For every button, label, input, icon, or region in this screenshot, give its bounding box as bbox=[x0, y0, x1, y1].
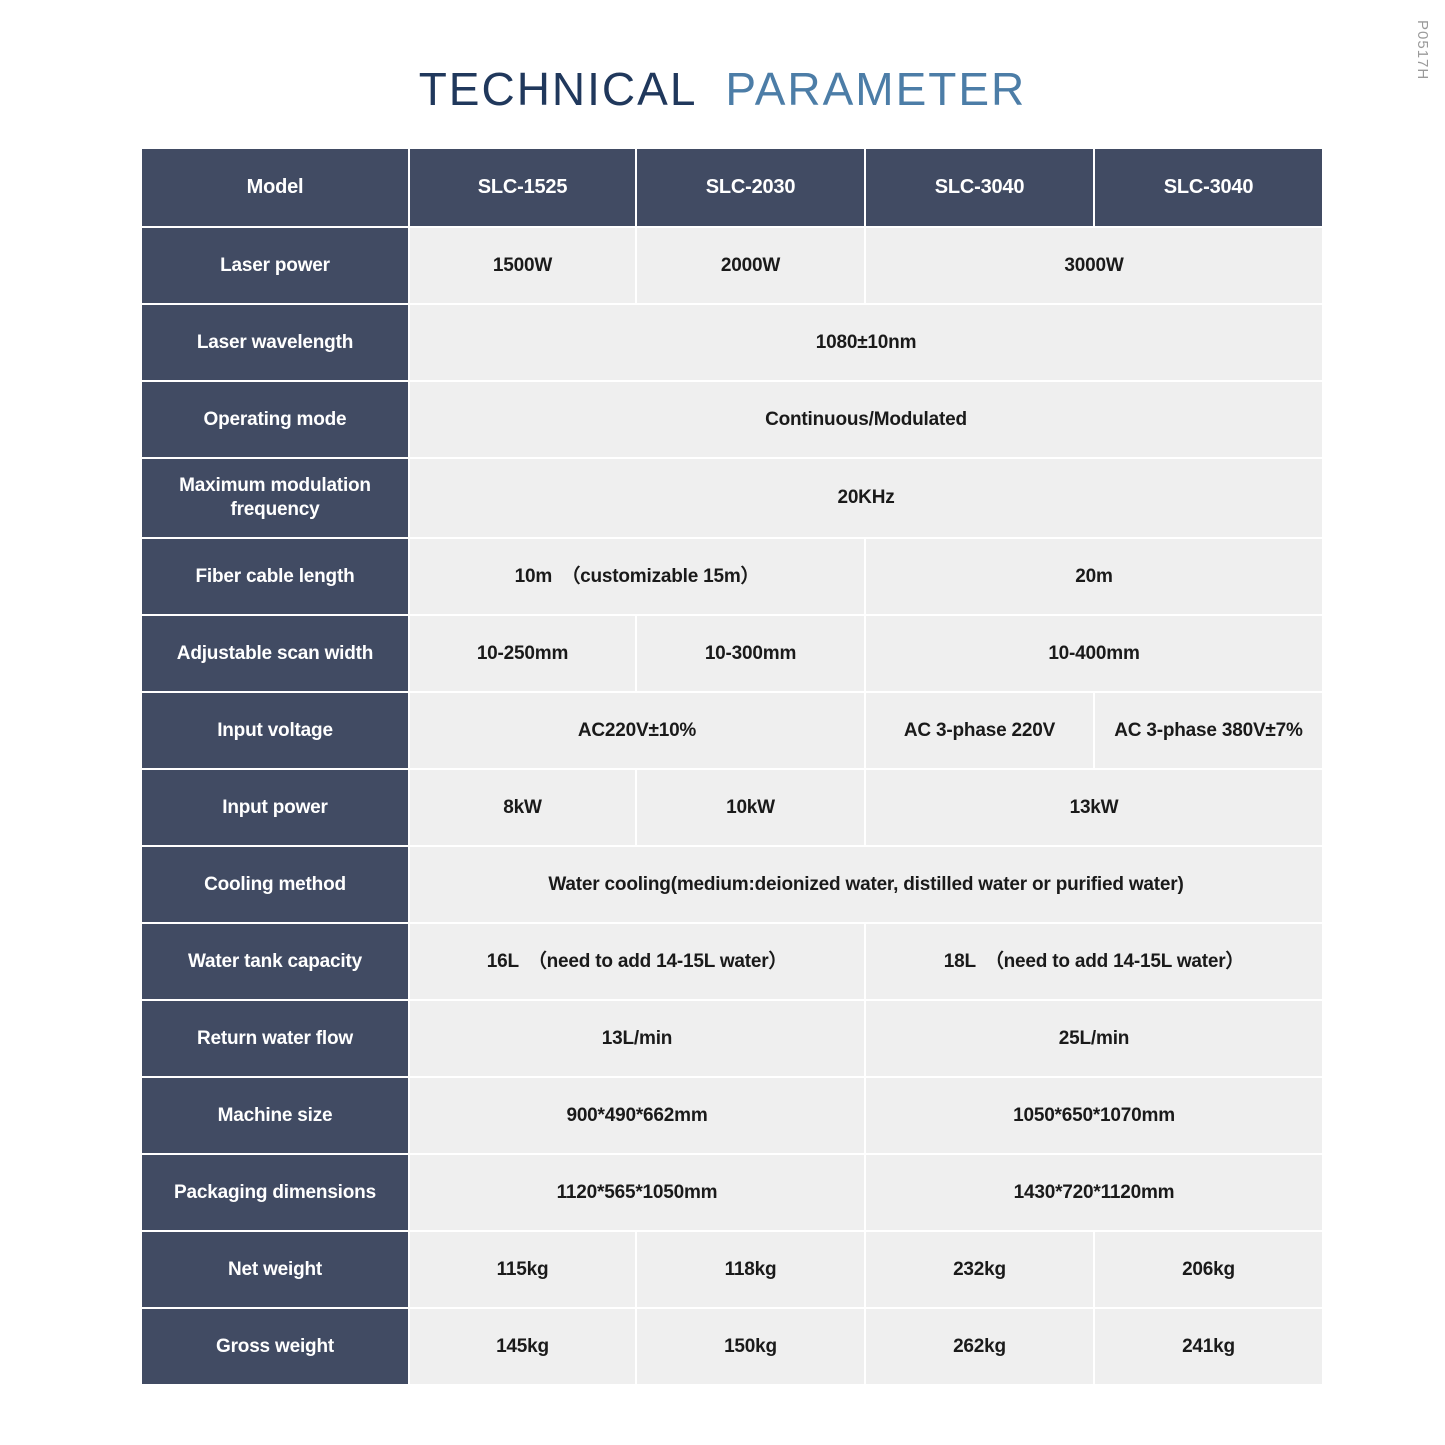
table-row: Gross weight145kg150kg262kg241kg bbox=[142, 1309, 1322, 1384]
table-row: Water tank capacity16L （need to add 14-1… bbox=[142, 924, 1322, 999]
table-row: Laser power1500W2000W3000W bbox=[142, 228, 1322, 303]
table-header-row: ModelSLC-1525SLC-2030SLC-3040SLC-3040 bbox=[142, 149, 1322, 226]
row-value-cell: 115kg bbox=[410, 1232, 635, 1307]
page-title-word-parameter: Parameter bbox=[725, 44, 1026, 120]
table-row: Cooling methodWater cooling(medium:deion… bbox=[142, 847, 1322, 922]
row-value-cell: 232kg bbox=[866, 1232, 1093, 1307]
row-value-cell: 118kg bbox=[637, 1232, 864, 1307]
row-label: Input power bbox=[142, 770, 408, 845]
page-title: TechnicalParameter bbox=[0, 44, 1445, 120]
table-row: Fiber cable length10m （customizable 15m）… bbox=[142, 539, 1322, 614]
table-header-model-3: SLC-3040 bbox=[866, 149, 1093, 226]
table-header-model-1: SLC-1525 bbox=[410, 149, 635, 226]
row-value-cell: 10kW bbox=[637, 770, 864, 845]
table-row: Return water flow13L/min25L/min bbox=[142, 1001, 1322, 1076]
row-value-cell: 206kg bbox=[1095, 1232, 1322, 1307]
row-value-cell: 10-300mm bbox=[637, 616, 864, 691]
table-row: Operating modeContinuous/Modulated bbox=[142, 382, 1322, 457]
row-value-cell: 10-250mm bbox=[410, 616, 635, 691]
row-value-cell: 2000W bbox=[637, 228, 864, 303]
row-label: Laser wavelength bbox=[142, 305, 408, 380]
specification-table-wrapper: ModelSLC-1525SLC-2030SLC-3040SLC-3040Las… bbox=[140, 147, 1314, 1386]
table-header-label-model: Model bbox=[142, 149, 408, 226]
row-value-cell: 1050*650*1070mm bbox=[866, 1078, 1322, 1153]
page-title-word-technical: Technical bbox=[419, 44, 698, 120]
row-value-cell: Water cooling(medium:deionized water, di… bbox=[410, 847, 1322, 922]
table-row: Maximum modulation frequency20KHz bbox=[142, 459, 1322, 537]
row-label: Net weight bbox=[142, 1232, 408, 1307]
table-row: Net weight115kg118kg232kg206kg bbox=[142, 1232, 1322, 1307]
row-value-cell: AC 3-phase 220V bbox=[866, 693, 1093, 768]
row-label: Gross weight bbox=[142, 1309, 408, 1384]
row-value-cell: Continuous/Modulated bbox=[410, 382, 1322, 457]
row-label: Input voltage bbox=[142, 693, 408, 768]
specification-table-body: ModelSLC-1525SLC-2030SLC-3040SLC-3040Las… bbox=[142, 149, 1322, 1384]
table-row: Adjustable scan width10-250mm10-300mm10-… bbox=[142, 616, 1322, 691]
row-value-cell: 8kW bbox=[410, 770, 635, 845]
row-value-cell: 1430*720*1120mm bbox=[866, 1155, 1322, 1230]
row-value-cell: 16L （need to add 14-15L water） bbox=[410, 924, 864, 999]
row-value-cell: 3000W bbox=[866, 228, 1322, 303]
row-label: Fiber cable length bbox=[142, 539, 408, 614]
row-value-cell: 10-400mm bbox=[866, 616, 1322, 691]
row-value-cell: AC220V±10% bbox=[410, 693, 864, 768]
row-value-cell: 262kg bbox=[866, 1309, 1093, 1384]
table-row: Machine size900*490*662mm1050*650*1070mm bbox=[142, 1078, 1322, 1153]
row-label: Adjustable scan width bbox=[142, 616, 408, 691]
row-value-cell: 150kg bbox=[637, 1309, 864, 1384]
table-row: Laser wavelength1080±10nm bbox=[142, 305, 1322, 380]
table-header-model-2: SLC-2030 bbox=[637, 149, 864, 226]
row-value-cell: 1080±10nm bbox=[410, 305, 1322, 380]
spec-sheet-page: P0517H TechnicalParameter ModelSLC-1525S… bbox=[0, 0, 1445, 1445]
table-row: Packaging dimensions1120*565*1050mm1430*… bbox=[142, 1155, 1322, 1230]
row-label: Water tank capacity bbox=[142, 924, 408, 999]
table-row: Input power8kW10kW13kW bbox=[142, 770, 1322, 845]
row-value-cell: 241kg bbox=[1095, 1309, 1322, 1384]
table-row: Input voltageAC220V±10%AC 3-phase 220VAC… bbox=[142, 693, 1322, 768]
row-label: Machine size bbox=[142, 1078, 408, 1153]
row-value-cell: 13L/min bbox=[410, 1001, 864, 1076]
row-label: Maximum modulation frequency bbox=[142, 459, 408, 537]
table-header-model-4: SLC-3040 bbox=[1095, 149, 1322, 226]
row-label: Cooling method bbox=[142, 847, 408, 922]
row-value-cell: 20m bbox=[866, 539, 1322, 614]
row-value-cell: 1120*565*1050mm bbox=[410, 1155, 864, 1230]
row-value-cell: 25L/min bbox=[866, 1001, 1322, 1076]
row-label: Laser power bbox=[142, 228, 408, 303]
row-value-cell: 1500W bbox=[410, 228, 635, 303]
row-value-cell: 145kg bbox=[410, 1309, 635, 1384]
row-label: Packaging dimensions bbox=[142, 1155, 408, 1230]
row-value-cell: 18L （need to add 14-15L water） bbox=[866, 924, 1322, 999]
row-value-cell: 900*490*662mm bbox=[410, 1078, 864, 1153]
row-value-cell: 20KHz bbox=[410, 459, 1322, 537]
row-label: Operating mode bbox=[142, 382, 408, 457]
row-value-cell: 13kW bbox=[866, 770, 1322, 845]
row-value-cell: 10m （customizable 15m） bbox=[410, 539, 864, 614]
specification-table: ModelSLC-1525SLC-2030SLC-3040SLC-3040Las… bbox=[140, 147, 1324, 1386]
row-label: Return water flow bbox=[142, 1001, 408, 1076]
row-value-cell: AC 3-phase 380V±7% bbox=[1095, 693, 1322, 768]
